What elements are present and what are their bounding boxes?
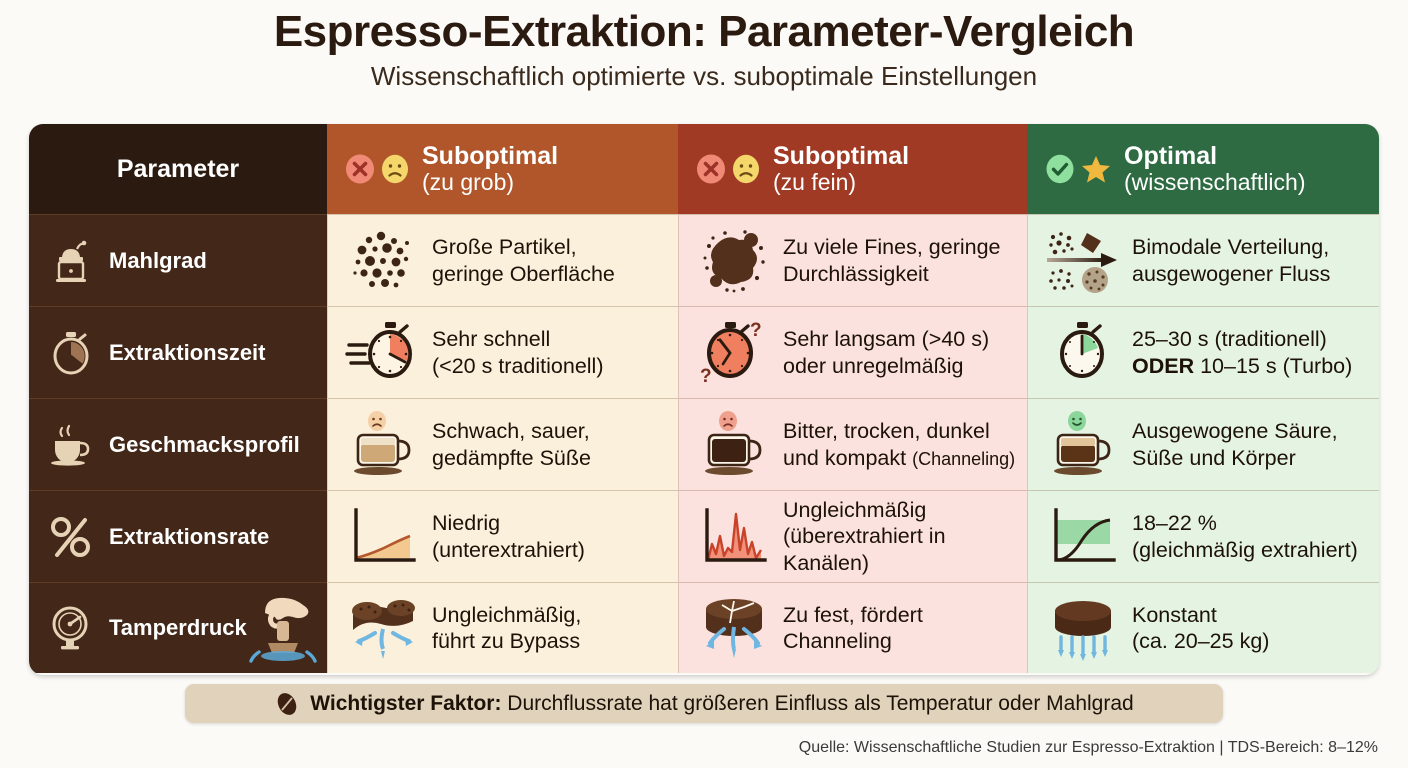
cell-extraktionsrate-fine: Ungleichmäßig (überextrahiert in Kanälen…: [678, 490, 1027, 582]
column-header-suboptimal-fine: Suboptimal (zu fein): [678, 124, 1027, 214]
row-header-extraktionsrate: Extraktionsrate: [29, 490, 327, 582]
page-subtitle: Wissenschaftlich optimierte vs. suboptim…: [0, 62, 1408, 91]
cell-extraktionszeit-coarse: Sehr schnell (<20 s traditionell): [327, 306, 678, 398]
cell-mahlgrad-coarse: Große Partikel, geringe Oberfläche: [327, 214, 678, 306]
infographic-header: Espresso-Extraktion: Parameter-Vergleich…: [0, 0, 1408, 91]
key-factor-text: Wichtigster Faktor: Durchflussrate hat g…: [310, 692, 1133, 716]
column-header-optimal-label: Optimal: [1124, 143, 1306, 170]
cracked-puck-icon: [693, 593, 777, 663]
coffee-bean-icon: [274, 691, 300, 717]
cell-text-tamperdruck-coarse: Ungleichmäßig, führt zu Bypass: [432, 602, 581, 654]
row-label-extraktionszeit: Extraktionszeit: [109, 340, 266, 366]
spiky-chart-icon: [693, 504, 777, 570]
even-puck-icon: [1042, 593, 1126, 663]
coffee-grinder-icon: [47, 238, 95, 284]
line-2: Channeling: [783, 628, 923, 654]
column-header-parameter-label: Parameter: [117, 155, 239, 184]
line-2: (überextrahiert in Kanälen): [783, 523, 1019, 575]
column-header-suboptimal-coarse: Suboptimal (zu grob): [327, 124, 678, 214]
line-2: führt zu Bypass: [432, 628, 581, 654]
key-factor-bold: Wichtigster Faktor:: [310, 692, 501, 715]
line-2: gedämpfte Süße: [432, 445, 591, 471]
line-2-note: (Channeling): [912, 449, 1015, 469]
cell-extraktionsrate-optimal: 18–22 % (gleichmäßig extrahiert): [1027, 490, 1379, 582]
cell-mahlgrad-optimal: Bimodale Verteilung, ausgewogener Fluss: [1027, 214, 1379, 306]
cell-text-geschmacksprofil-fine: Bitter, trocken, dunkel und kompakt (Cha…: [783, 418, 1015, 470]
line-2: oder unregelmäßig: [783, 353, 989, 379]
slow-stopwatch-icon: ? ?: [693, 320, 777, 386]
cell-text-extraktionszeit-fine: Sehr langsam (>40 s) oder unregelmäßig: [783, 326, 989, 378]
svg-text:?: ?: [700, 366, 712, 386]
line-2: (gleichmäßig extrahiert): [1132, 537, 1358, 563]
cell-text-tamperdruck-optimal: Konstant (ca. 20–25 kg): [1132, 602, 1269, 654]
tamper-hand-icon: [247, 591, 321, 667]
line-1: Zu viele Fines, geringe: [783, 234, 1001, 260]
row-label-tamperdruck: Tamperdruck: [109, 615, 247, 641]
dark-cup-sad-icon: [693, 411, 777, 479]
fast-stopwatch-icon: [342, 320, 426, 386]
table-row: Mahlgrad Große Partikel,: [29, 214, 1379, 306]
cell-tamperdruck-optimal: Konstant (ca. 20–25 kg): [1027, 582, 1379, 673]
column-header-coarse-text: Suboptimal (zu grob): [422, 143, 558, 195]
row-label-extraktionsrate: Extraktionsrate: [109, 524, 269, 550]
line-1: Schwach, sauer,: [432, 418, 591, 444]
row-label-mahlgrad: Mahlgrad: [109, 248, 207, 274]
line-2: (unterextrahiert): [432, 537, 585, 563]
cell-text-extraktionsrate-optimal: 18–22 % (gleichmäßig extrahiert): [1132, 510, 1358, 562]
pressure-gauge-icon: [47, 604, 95, 652]
coarse-particles-icon: [342, 228, 426, 294]
table-row: Extraktionsrate Niedrig (unterextrahiert…: [29, 490, 1379, 582]
line-1: Bitter, trocken, dunkel: [783, 418, 1015, 444]
table-header-row: Parameter: [29, 124, 1379, 214]
cell-geschmacksprofil-coarse: Schwach, sauer, gedämpfte Süße: [327, 398, 678, 490]
row-header-mahlgrad: Mahlgrad: [29, 214, 327, 306]
cell-text-extraktionszeit-coarse: Sehr schnell (<20 s traditionell): [432, 326, 604, 378]
column-header-optimal: Optimal (wissenschaftlich): [1027, 124, 1379, 214]
line-1: Ungleichmäßig: [783, 497, 1019, 523]
bimodal-distribution-icon: [1042, 228, 1126, 294]
key-factor-banner: Wichtigster Faktor: Durchflussrate hat g…: [185, 684, 1223, 723]
line-1: 25–30 s (traditionell): [1132, 326, 1352, 352]
green-stopwatch-icon: [1042, 320, 1126, 386]
line-2: ausgewogener Fluss: [1132, 261, 1330, 287]
cell-text-tamperdruck-fine: Zu fest, fördert Channeling: [783, 602, 923, 654]
check-circle-icon: [1045, 154, 1075, 184]
cell-text-mahlgrad-optimal: Bimodale Verteilung, ausgewogener Fluss: [1132, 234, 1330, 286]
cell-extraktionsrate-coarse: Niedrig (unterextrahiert): [327, 490, 678, 582]
line-1: Große Partikel,: [432, 234, 615, 260]
line-1: Konstant: [1132, 602, 1269, 628]
header-icon-group-coarse: [345, 154, 410, 184]
line-1: Sehr langsam (>40 s): [783, 326, 989, 352]
fines-clump-icon: [693, 228, 777, 294]
cell-mahlgrad-fine: Zu viele Fines, geringe Durchlässigkeit: [678, 214, 1027, 306]
table-row: Tamperdruck: [29, 582, 1379, 673]
table-row: Geschmacksprofil Schwach, sauer, ge: [29, 398, 1379, 490]
line-2: (<20 s traditionell): [432, 353, 604, 379]
column-header-parameter: Parameter: [29, 124, 327, 214]
line-2-main: und kompakt: [783, 446, 912, 470]
cell-extraktionszeit-optimal: 25–30 s (traditionell) ODER 10–15 s (Tur…: [1027, 306, 1379, 398]
cell-tamperdruck-fine: Zu fest, fördert Channeling: [678, 582, 1027, 673]
cell-geschmacksprofil-optimal: Ausgewogene Säure, Süße und Körper: [1027, 398, 1379, 490]
line-1: 18–22 %: [1132, 510, 1358, 536]
comparison-table: Parameter: [29, 124, 1379, 675]
cross-circle-icon: [696, 154, 726, 184]
optimal-curve-chart-icon: [1042, 504, 1126, 570]
cell-geschmacksprofil-fine: Bitter, trocken, dunkel und kompakt (Cha…: [678, 398, 1027, 490]
column-header-optimal-text: Optimal (wissenschaftlich): [1124, 143, 1306, 195]
row-header-tamperdruck: Tamperdruck: [29, 582, 327, 673]
line-2: Durchlässigkeit: [783, 261, 1001, 287]
key-factor-rest: Durchflussrate hat größeren Einfluss als…: [501, 692, 1133, 715]
column-header-fine-text: Suboptimal (zu fein): [773, 143, 909, 195]
low-curve-chart-icon: [342, 504, 426, 570]
stopwatch-icon: [47, 330, 95, 376]
cell-tamperdruck-coarse: Ungleichmäßig, führt zu Bypass: [327, 582, 678, 673]
cell-text-mahlgrad-coarse: Große Partikel, geringe Oberfläche: [432, 234, 615, 286]
row-header-extraktionszeit: Extraktionszeit: [29, 306, 327, 398]
line-2: geringe Oberfläche: [432, 261, 615, 287]
table-row: Extraktionszeit: [29, 306, 1379, 398]
svg-text:?: ?: [750, 320, 762, 341]
cell-text-extraktionsrate-fine: Ungleichmäßig (überextrahiert in Kanälen…: [783, 497, 1019, 576]
frowning-face-icon: [731, 154, 761, 184]
line-2: Süße und Körper: [1132, 445, 1338, 471]
column-header-fine-sublabel: (zu fein): [773, 170, 909, 195]
row-header-geschmacksprofil: Geschmacksprofil: [29, 398, 327, 490]
line-2: und kompakt (Channeling): [783, 445, 1015, 471]
cell-text-extraktionszeit-optimal: 25–30 s (traditionell) ODER 10–15 s (Tur…: [1132, 326, 1352, 378]
cell-text-mahlgrad-fine: Zu viele Fines, geringe Durchlässigkeit: [783, 234, 1001, 286]
line-1: Sehr schnell: [432, 326, 604, 352]
header-icon-group-fine: [696, 154, 761, 184]
column-header-coarse-sublabel: (zu grob): [422, 170, 558, 195]
line-2-bold: ODER: [1132, 354, 1194, 378]
frowning-face-icon: [380, 154, 410, 184]
star-icon: [1080, 153, 1112, 185]
row-label-geschmacksprofil: Geschmacksprofil: [109, 432, 300, 458]
column-header-fine-label: Suboptimal: [773, 143, 909, 170]
cell-text-extraktionsrate-coarse: Niedrig (unterextrahiert): [432, 510, 585, 562]
header-icon-group-optimal: [1045, 153, 1112, 185]
cell-text-geschmacksprofil-optimal: Ausgewogene Säure, Süße und Körper: [1132, 418, 1338, 470]
balanced-cup-happy-icon: [1042, 411, 1126, 479]
percent-icon: [47, 514, 95, 560]
pale-cup-sad-icon: [342, 411, 426, 479]
line-1: Zu fest, fördert: [783, 602, 923, 628]
cell-text-geschmacksprofil-coarse: Schwach, sauer, gedämpfte Süße: [432, 418, 591, 470]
line-2-rest: 10–15 s (Turbo): [1194, 354, 1352, 378]
uneven-puck-icon: [342, 593, 426, 663]
coffee-cup-icon: [47, 422, 95, 468]
line-1: Ungleichmäßig,: [432, 602, 581, 628]
line-1: Ausgewogene Säure,: [1132, 418, 1338, 444]
column-header-optimal-sublabel: (wissenschaftlich): [1124, 170, 1306, 195]
line-1: Niedrig: [432, 510, 585, 536]
cell-extraktionszeit-fine: ? ? Sehr langsam (>40 s) oder unregelmäß…: [678, 306, 1027, 398]
cross-circle-icon: [345, 154, 375, 184]
line-1: Bimodale Verteilung,: [1132, 234, 1330, 260]
source-line: Quelle: Wissenschaftliche Studien zur Es…: [799, 739, 1378, 757]
line-2: ODER 10–15 s (Turbo): [1132, 353, 1352, 379]
column-header-coarse-label: Suboptimal: [422, 143, 558, 170]
line-2: (ca. 20–25 kg): [1132, 628, 1269, 654]
page-title: Espresso-Extraktion: Parameter-Vergleich: [0, 8, 1408, 56]
